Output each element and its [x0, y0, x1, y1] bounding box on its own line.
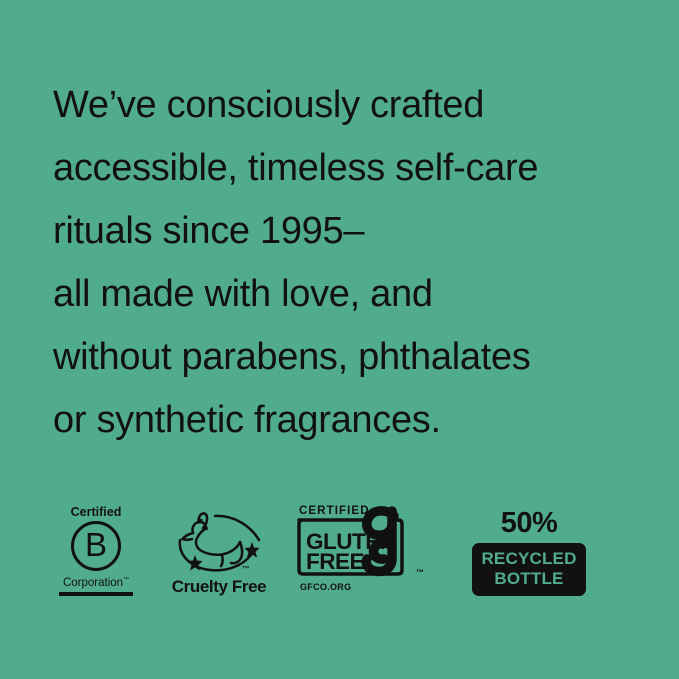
b-corp-icon: B [71, 521, 121, 571]
recycled-line-1: RECYCLED [481, 549, 576, 569]
brand-statement-card: We’ve consciously crafted accessible, ti… [0, 0, 679, 679]
b-corp-letter: B [85, 528, 107, 561]
statement-line-6: or synthetic fragrances. [53, 389, 653, 452]
leaping-bunny-icon: ™ [167, 507, 271, 577]
badge-cruelty-free: ™ Cruelty Free [160, 496, 278, 596]
brand-statement-text: We’ve consciously crafted accessible, ti… [53, 74, 653, 452]
statement-line-4: all made with love, and [53, 263, 653, 326]
svg-text:GFCO.ORG: GFCO.ORG [300, 582, 351, 592]
svg-text:CERTIFIED: CERTIFIED [299, 505, 370, 517]
certification-badge-row: Certified B Corporation™ [50, 492, 630, 596]
svg-text:FREE: FREE [306, 549, 365, 574]
svg-text:™: ™ [242, 564, 250, 573]
cruelty-free-label: Cruelty Free [172, 577, 266, 596]
svg-text:™: ™ [416, 568, 424, 577]
statement-line-2: accessible, timeless self-care [53, 137, 653, 200]
b-corp-corporation-label: Corporation™ [63, 574, 129, 590]
recycled-percent: 50% [501, 508, 558, 539]
badge-b-corporation: Certified B Corporation™ [50, 496, 142, 596]
b-corp-trademark-icon: ™ [123, 577, 129, 583]
b-corp-underline-rule [59, 592, 133, 596]
badge-gluten-free: CERTIFIED GLUTEN FREE ™ GFCO.ORG [294, 496, 434, 596]
statement-line-1: We’ve consciously crafted [53, 74, 653, 137]
statement-line-5: without parabens, phthalates [53, 326, 653, 389]
statement-line-3: rituals since 1995– [53, 200, 653, 263]
gfco-gluten-free-icon: CERTIFIED GLUTEN FREE ™ GFCO.ORG [294, 500, 430, 596]
recycled-bottle-icon: RECYCLED BOTTLE [472, 543, 585, 596]
b-corp-certified-label: Certified [71, 505, 122, 519]
recycled-line-2: BOTTLE [481, 569, 576, 589]
badge-recycled-bottle: 50% RECYCLED BOTTLE [474, 496, 584, 596]
